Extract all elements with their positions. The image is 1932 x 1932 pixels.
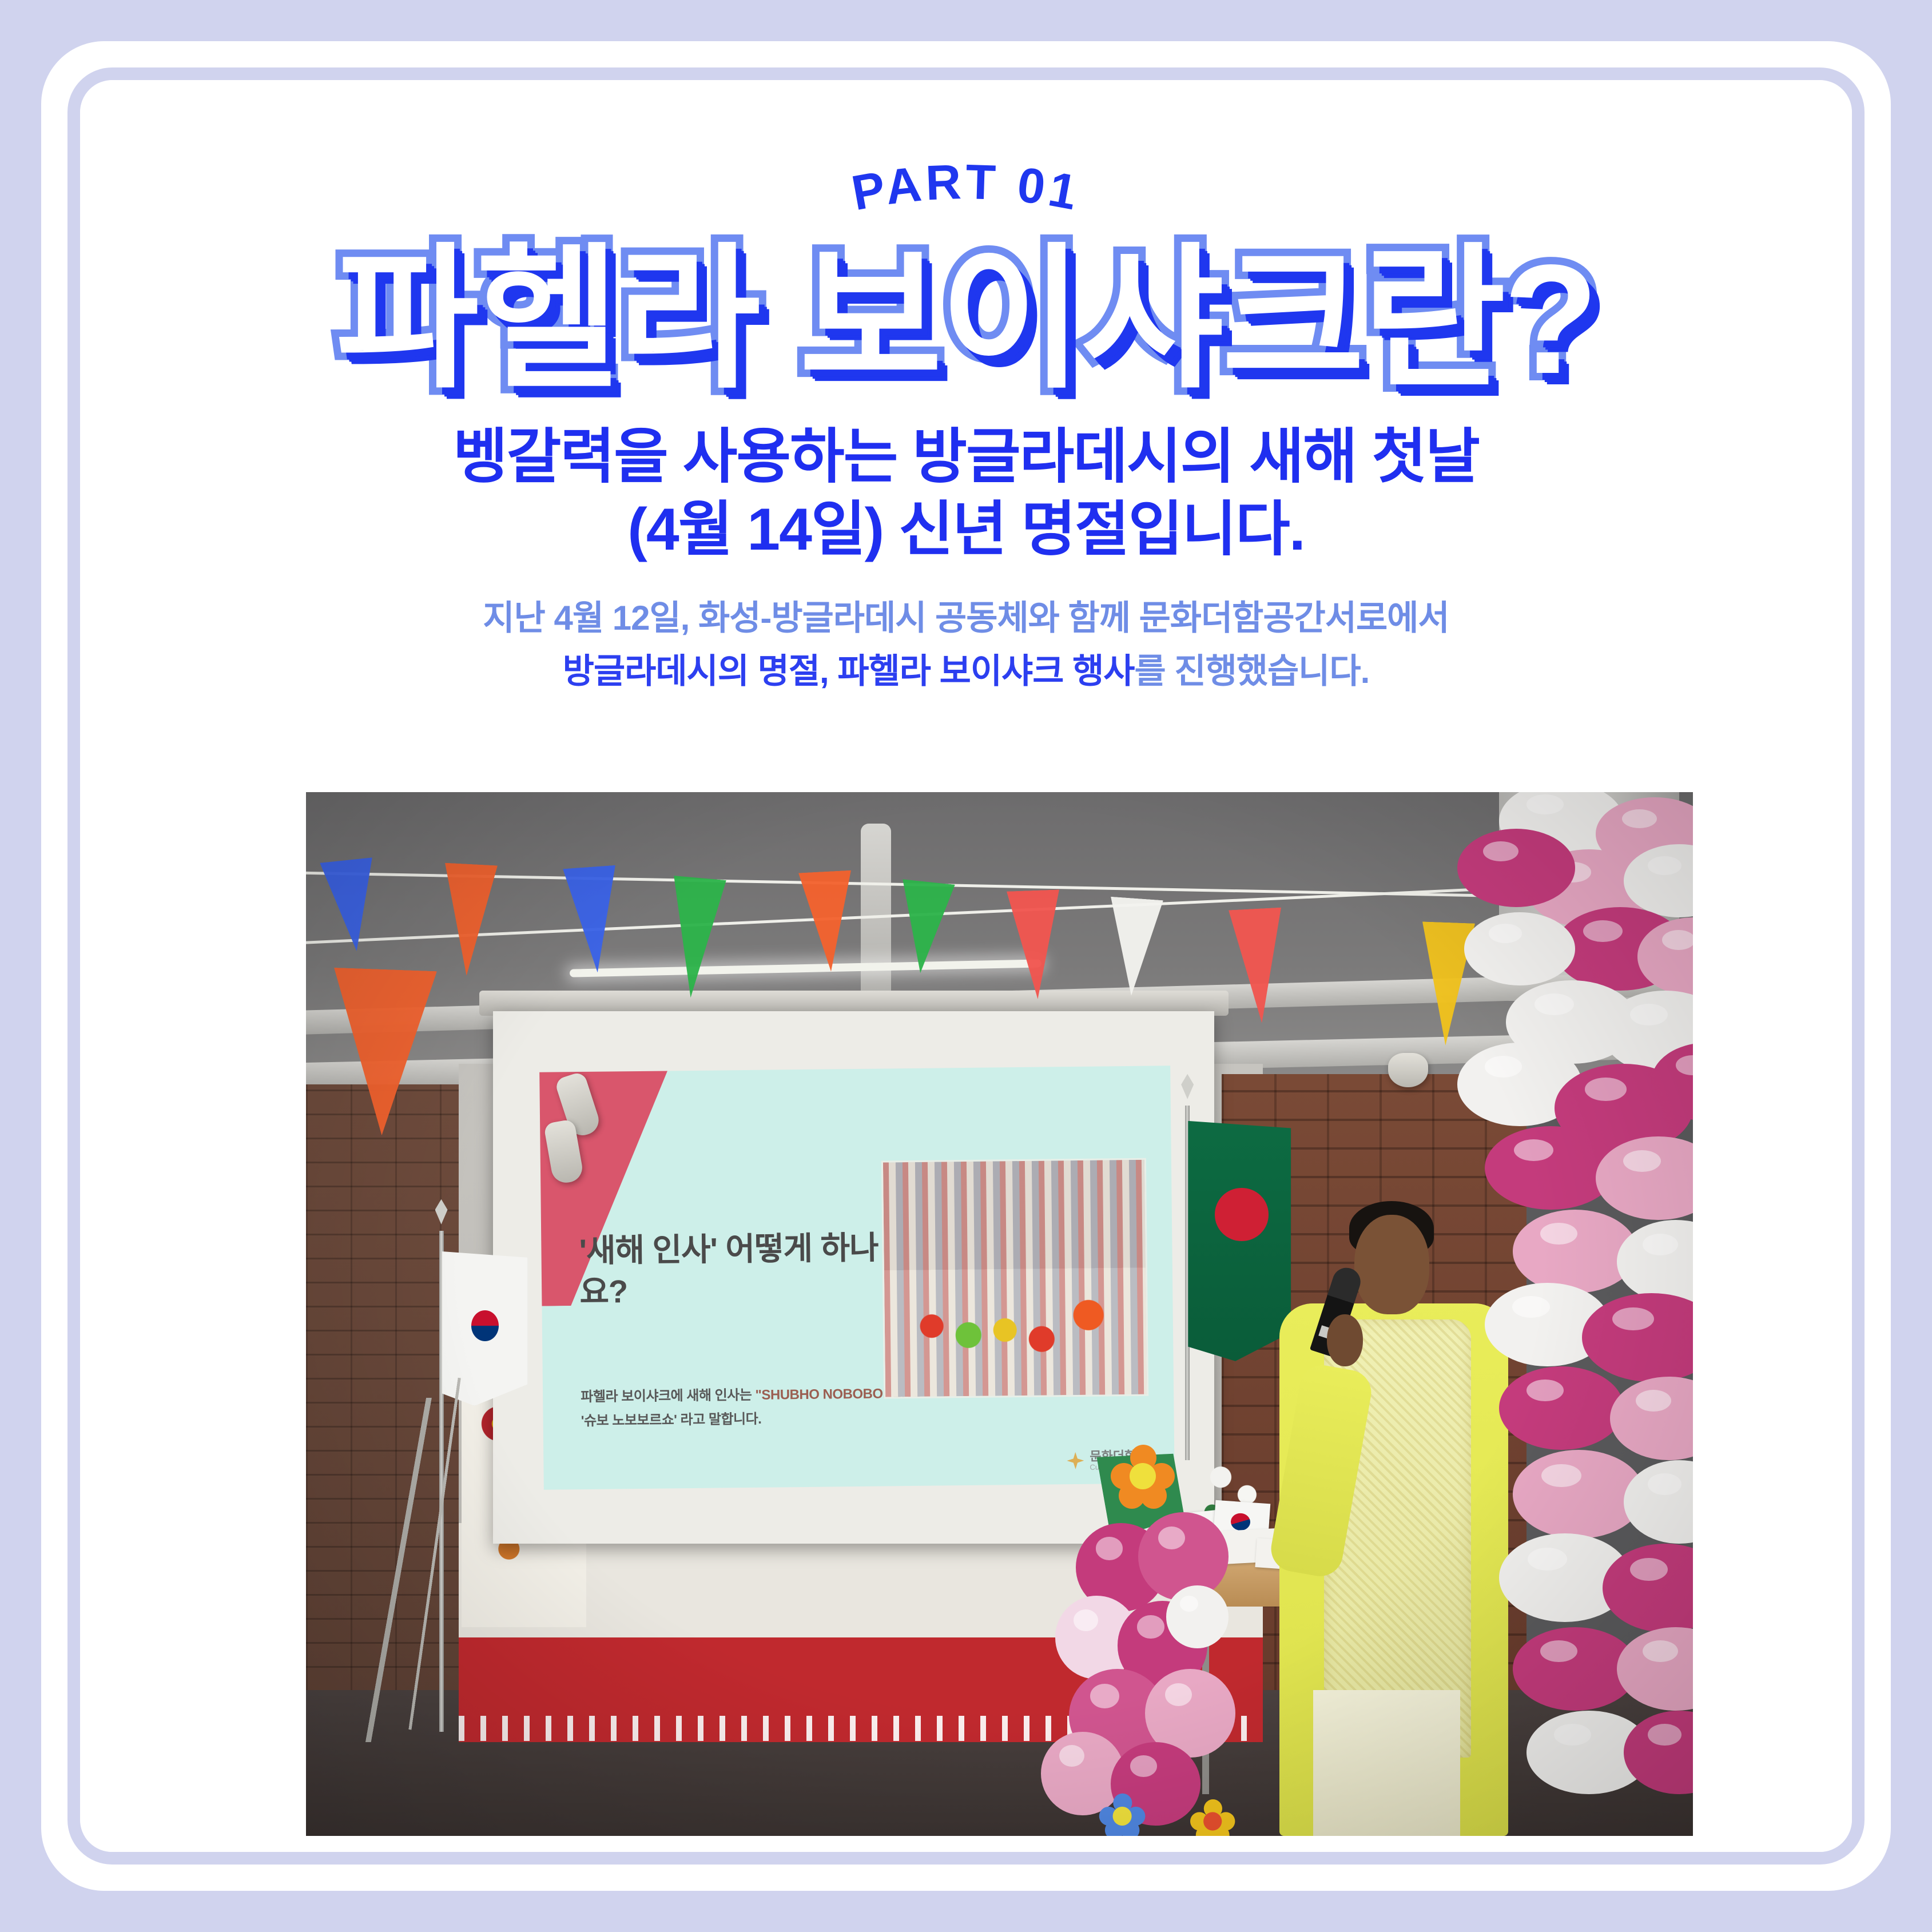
photo-balloon — [1464, 912, 1575, 985]
part-label-wrapper: PART 01 — [80, 149, 1852, 240]
photo-ceiling-lamp — [1388, 1053, 1428, 1087]
subtitle-line-2: (4월 14일) 신년 명절입니다. — [80, 494, 1852, 566]
photo-balloon-flower-orange — [1111, 1445, 1179, 1513]
slide-body-line-2: '슈보 노보보르쇼' 라고 말합니다. — [581, 1405, 947, 1433]
photo-balloon-flower-blue — [1099, 1794, 1148, 1836]
photo-slide: '새해 인사' 어떻게 하나요? 파헬라 보이샤크에 새해 인사는 "SHUBH… — [539, 1066, 1175, 1490]
header-block: PART 01 파헬라 보이샤크란? 벵갈력을 사용하는 방글라데시의 새해 첫… — [80, 149, 1852, 698]
card-canvas: PART 01 파헬라 보이샤크란? 벵갈력을 사용하는 방글라데시의 새해 첫… — [80, 80, 1852, 1852]
photo-bangladesh-flag — [1188, 1121, 1291, 1361]
photo-speaker-trousers — [1313, 1690, 1460, 1836]
part-label-text: PART 01 — [848, 154, 1084, 221]
photo-balloon-flower-yellow — [1190, 1799, 1238, 1836]
description-line-2: 방글라데시의 명절, 파헬라 보이샤크 행사를 진행했습니다. — [80, 645, 1852, 698]
taegeuk-icon — [471, 1310, 499, 1341]
subtitle: 벵갈력을 사용하는 방글라데시의 새해 첫날 (4월 14일) 신년 명절입니다… — [80, 421, 1852, 566]
sharing-star-icon — [1067, 1452, 1084, 1469]
slide-title: '새해 인사' 어떻게 하나요? — [579, 1227, 908, 1312]
subtitle-line-1: 벵갈력을 사용하는 방글라데시의 새해 첫날 — [80, 421, 1852, 494]
slide-body-pre: 파헬라 보이샤크에 새해 인사는 — [581, 1387, 755, 1404]
taegeuk-icon — [1230, 1512, 1251, 1531]
balloon-flower-center — [1203, 1812, 1222, 1830]
event-photo: '새해 인사' 어떻게 하나요? 파헬라 보이샤크에 새해 인사는 "SHUBH… — [306, 792, 1693, 1836]
card-frame: PART 01 파헬라 보이샤크란? 벵갈력을 사용하는 방글라데시의 새해 첫… — [41, 41, 1891, 1891]
description-line-1: 지난 4월 12일, 화성-방글라데시 공동체와 함께 문화더함공간서로에서 — [80, 591, 1852, 645]
page-title: 파헬라 보이샤크란? — [80, 237, 1852, 401]
photo-balloon — [1610, 1377, 1694, 1460]
part-label-arc: PART 01 — [709, 149, 1223, 246]
part-label-textpath: PART 01 — [848, 154, 1084, 221]
photo-tripod-left-leg — [341, 1398, 466, 1742]
description-highlight: 방글라데시의 명절, 파헬라 보이샤크 행사 — [563, 652, 1135, 690]
balloon-flower-center — [1130, 1463, 1156, 1489]
description: 지난 4월 12일, 화성-방글라데시 공동체와 함께 문화더함공간서로에서 방… — [80, 591, 1852, 698]
description-rest: 를 진행했습니다. — [1135, 652, 1370, 690]
photo-speaker-head — [1354, 1215, 1429, 1314]
photo-balloon — [1457, 829, 1575, 907]
photo-balloon — [1166, 1585, 1229, 1648]
balloon-flower-center — [1113, 1807, 1132, 1826]
photo-balloon — [1499, 1366, 1624, 1450]
photo-speaker-hand — [1327, 1314, 1363, 1366]
photo-balloon — [1138, 1512, 1229, 1601]
photo-ceiling-pipe — [861, 824, 891, 1001]
slide-festival-photo — [881, 1158, 1149, 1398]
